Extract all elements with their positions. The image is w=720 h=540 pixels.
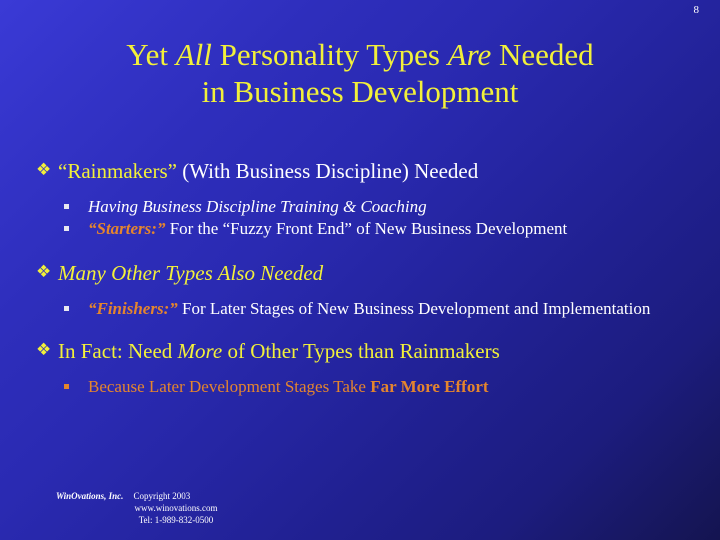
bullet-rainmakers-part-0: “Rainmakers”: [58, 159, 177, 183]
square-bullet-icon: [64, 204, 69, 209]
title-emphasis-all: All: [176, 37, 212, 72]
bullet-rainmakers-part-1: (With Business Discipline) Needed: [177, 159, 478, 183]
footer-website: www.winovations.com: [46, 502, 306, 514]
bullet-many-other-types-text: Many Other Types Also Needed: [58, 261, 323, 285]
title-text-personality-types: Personality Types: [212, 37, 448, 72]
sub-bullet-starters-label: “Starters:”: [88, 219, 165, 238]
sub-bullet-finishers-label: “Finishers:”: [88, 299, 178, 318]
footer-company-name: WinOvations, Inc.: [56, 491, 123, 501]
bullet-in-fact-part-0: In Fact: Need: [58, 339, 178, 363]
sub-bullet-finishers: “Finishers:” For Later Stages of New Bus…: [36, 298, 696, 320]
footer-copyright: Copyright 2003: [123, 491, 190, 501]
sub-bullet-having-text: Having Business Discipline Training & Co…: [88, 197, 427, 216]
sub-bullet-starters-text: For the “Fuzzy Front End” of New Busines…: [165, 219, 567, 238]
title-line-1: Yet All Personality Types Are Needed: [30, 36, 690, 73]
sub-bullet-finishers-text: For Later Stages of New Business Develop…: [178, 299, 651, 318]
bullet-in-fact-emphasis-more: More: [178, 339, 223, 363]
footer-line-company: WinOvations, Inc.Copyright 2003: [46, 490, 306, 502]
page-title: Yet All Personality Types Are Needed in …: [30, 36, 690, 110]
square-bullet-icon: [64, 384, 69, 389]
bullet-in-fact: ❖In Fact: Need More of Other Types than …: [36, 338, 696, 365]
bullet-many-other-types: ❖Many Other Types Also Needed: [36, 260, 696, 287]
diamond-bullet-icon: ❖: [36, 262, 52, 282]
title-emphasis-are: Are: [448, 37, 492, 72]
slide-canvas: 8 Yet All Personality Types Are Needed i…: [0, 0, 720, 540]
sub-bullet-starters: “Starters:” For the “Fuzzy Front End” of…: [36, 218, 696, 240]
diamond-bullet-icon: ❖: [36, 160, 52, 180]
diamond-bullet-icon: ❖: [36, 340, 52, 360]
title-text-needed: Needed: [491, 37, 593, 72]
title-line-2: in Business Development: [30, 73, 690, 110]
page-number: 8: [694, 5, 700, 16]
sub-bullet-having-business-discipline: Having Business Discipline Training & Co…: [36, 196, 696, 218]
bullet-in-fact-part-2: of Other Types than Rainmakers: [222, 339, 500, 363]
slide-body: ❖“Rainmakers” (With Business Discipline)…: [36, 158, 696, 398]
sub-bullet-because-emphasis: Far More Effort: [370, 377, 488, 396]
footer: WinOvations, Inc.Copyright 2003 www.wino…: [46, 490, 306, 526]
footer-telephone: Tel: 1-989-832-0500: [46, 514, 306, 526]
sub-bullet-because-later: Because Later Development Stages Take Fa…: [36, 376, 696, 398]
square-bullet-icon: [64, 306, 69, 311]
sub-bullet-because-text: Because Later Development Stages Take: [88, 377, 370, 396]
title-text-yet: Yet: [126, 37, 175, 72]
square-bullet-icon: [64, 226, 69, 231]
bullet-rainmakers: ❖“Rainmakers” (With Business Discipline)…: [36, 158, 696, 185]
